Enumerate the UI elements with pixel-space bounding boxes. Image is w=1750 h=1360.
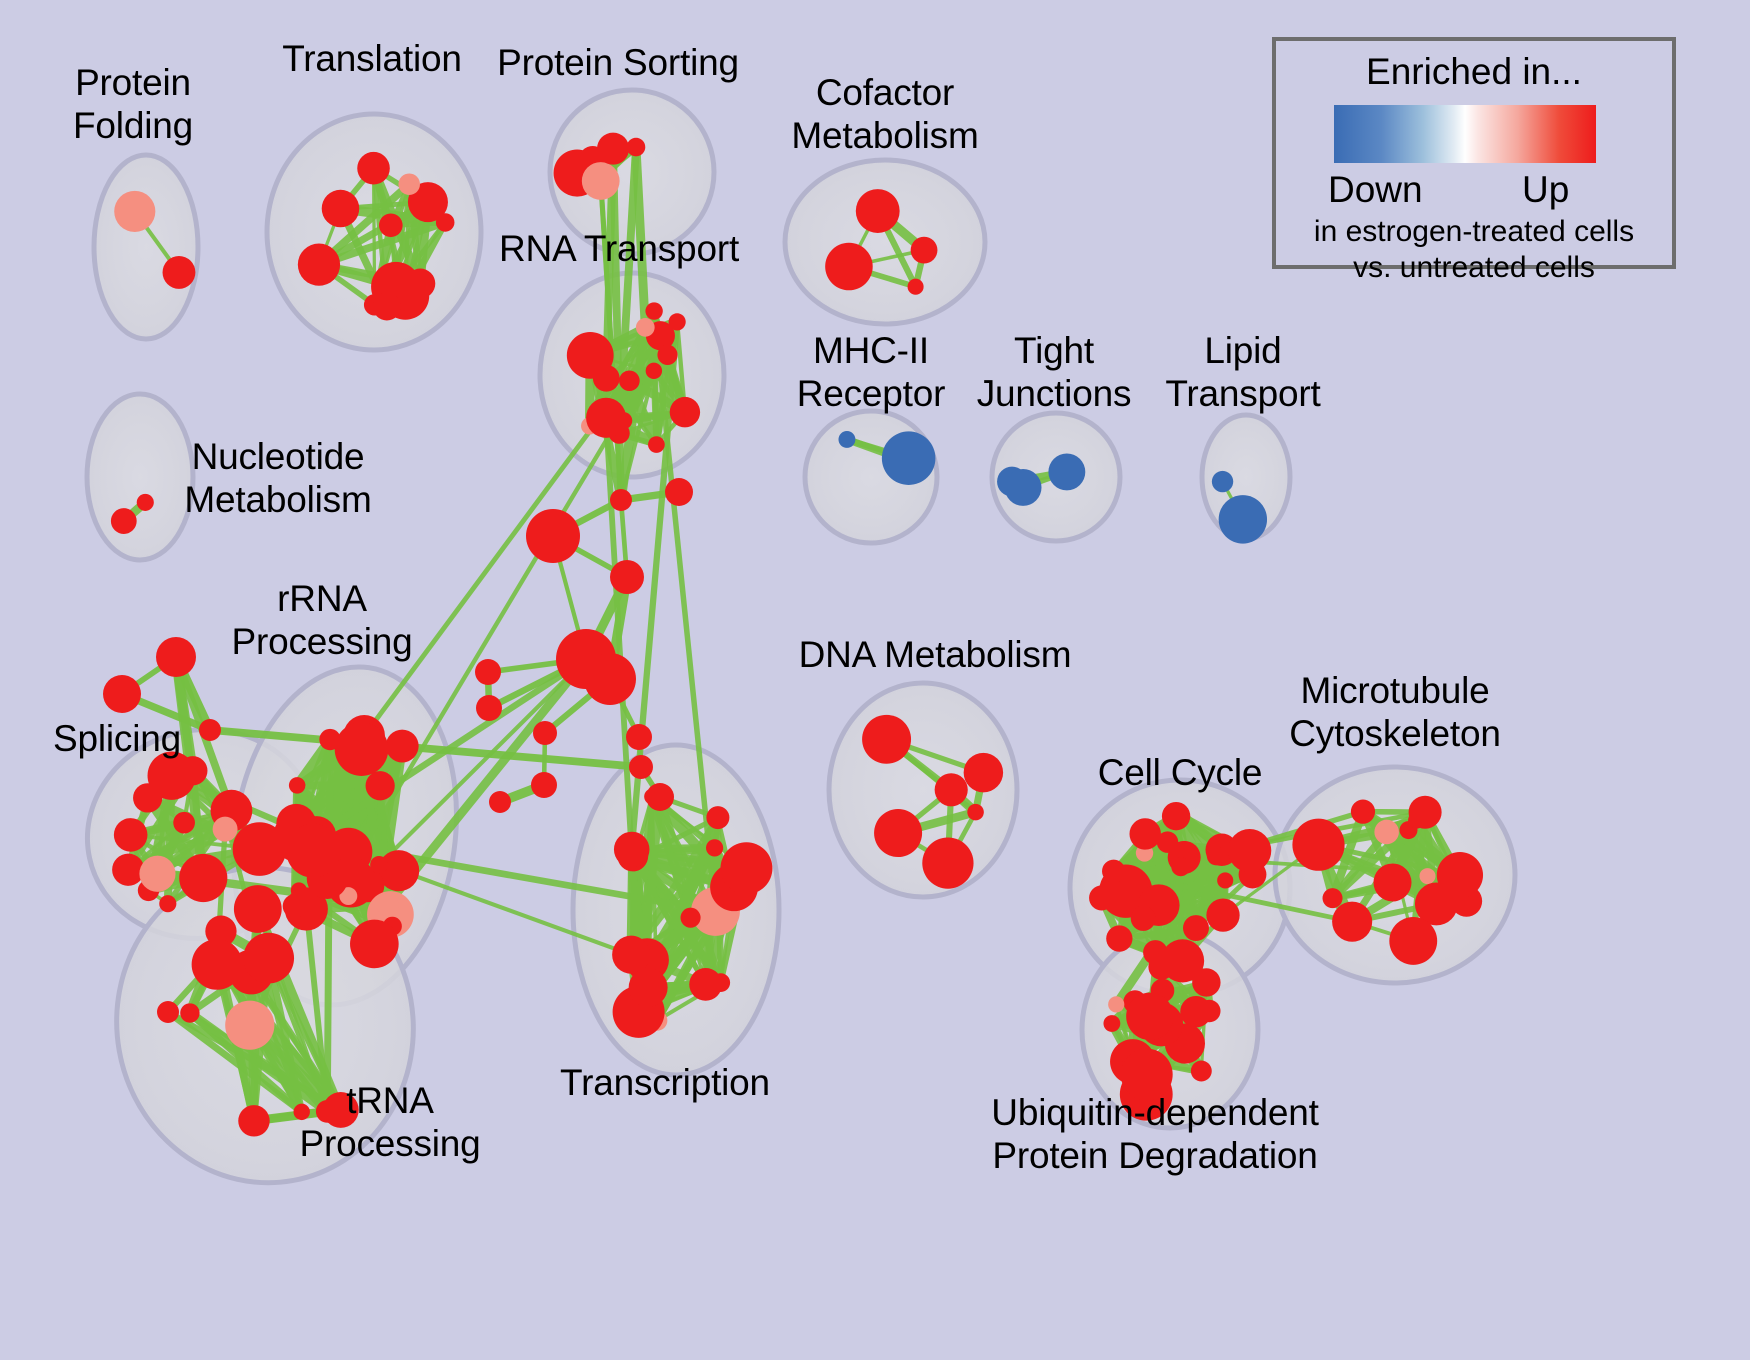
network-node — [370, 856, 388, 874]
network-node — [967, 804, 984, 821]
cluster-label-cell-cycle: Cell Cycle — [1098, 752, 1263, 795]
network-node — [1206, 899, 1239, 932]
network-node — [1103, 1015, 1120, 1032]
network-node — [1191, 1061, 1212, 1082]
network-node — [1217, 872, 1233, 888]
cluster-label-microtubule-cytoskeleton: Microtubule Cytoskeleton — [1289, 670, 1501, 756]
network-node — [475, 659, 501, 685]
network-node — [619, 370, 640, 391]
network-node — [192, 939, 243, 990]
network-node — [627, 138, 646, 157]
cluster-label-rrna-processing: rRNA Processing — [231, 578, 412, 664]
network-node — [373, 292, 401, 320]
network-node — [225, 1001, 274, 1050]
network-node — [243, 933, 294, 984]
network-node — [1323, 888, 1343, 908]
network-node — [436, 213, 455, 232]
network-node — [646, 783, 674, 811]
network-node — [238, 1105, 269, 1136]
network-node — [322, 190, 360, 228]
legend-subtitle-line-1: in estrogen-treated cells — [1276, 215, 1672, 249]
network-node — [612, 936, 650, 974]
cluster-label-splicing: Splicing — [53, 718, 181, 761]
network-node — [179, 854, 227, 902]
cluster-ellipse-nucleotide-metabolism — [87, 394, 193, 560]
network-node — [137, 494, 154, 511]
network-node — [669, 313, 686, 330]
network-node — [111, 508, 137, 534]
network-node — [1389, 917, 1437, 965]
network-node — [1219, 495, 1267, 543]
network-node — [922, 837, 973, 888]
cluster-label-dna-metabolism: DNA Metabolism — [799, 634, 1072, 677]
legend-up-label: Up — [1522, 169, 1569, 211]
network-node — [180, 1003, 199, 1022]
network-node — [614, 832, 650, 868]
network-node — [298, 244, 340, 286]
cluster-label-translation: Translation — [282, 38, 461, 81]
network-node — [626, 724, 652, 750]
network-node — [531, 772, 557, 798]
network-node — [646, 363, 662, 379]
network-node — [286, 824, 340, 878]
network-node — [706, 806, 729, 829]
network-node — [911, 237, 938, 264]
network-node — [645, 302, 662, 319]
legend-box: Enriched in... Down Up in estrogen-treat… — [1272, 37, 1676, 269]
network-node — [157, 1001, 179, 1023]
network-node — [670, 397, 700, 427]
network-edge — [654, 371, 657, 445]
network-node — [1089, 885, 1114, 910]
network-node — [1005, 469, 1042, 506]
network-node — [1292, 819, 1344, 871]
network-node — [213, 817, 238, 842]
network-node — [1419, 868, 1435, 884]
network-node — [139, 856, 175, 892]
network-node — [706, 839, 723, 856]
network-node — [629, 755, 653, 779]
network-node — [1409, 796, 1442, 829]
network-node — [825, 243, 873, 291]
network-node — [1102, 860, 1125, 883]
network-node — [112, 854, 144, 886]
network-node — [234, 885, 282, 933]
network-node — [597, 133, 629, 165]
network-node — [357, 152, 390, 185]
cluster-label-mhc-ii-receptor: MHC-II Receptor — [797, 330, 946, 416]
network-node — [366, 771, 395, 800]
cluster-ellipse-cofactor-metabolism — [785, 160, 985, 324]
network-node — [1332, 902, 1372, 942]
network-node — [199, 719, 221, 741]
network-node — [1171, 857, 1190, 876]
network-node — [610, 560, 644, 594]
network-node — [582, 162, 620, 200]
cluster-label-trna-processing: tRNA Processing — [299, 1080, 480, 1166]
cluster-label-ubiquitin-degradation: Ubiquitin-dependent Protein Degradation — [991, 1092, 1318, 1178]
network-figure: Protein FoldingTranslationProtein Sortin… — [0, 0, 1750, 1360]
network-node — [689, 968, 722, 1001]
network-node — [103, 675, 141, 713]
cluster-label-protein-folding: Protein Folding — [73, 62, 193, 148]
network-node — [533, 721, 557, 745]
network-node — [335, 722, 389, 776]
network-node — [1106, 925, 1132, 951]
color-gradient-bar — [1334, 105, 1596, 163]
cluster-label-nucleotide-metabolism: Nucleotide Metabolism — [184, 436, 371, 522]
network-node — [1108, 996, 1124, 1012]
network-node — [720, 842, 772, 894]
network-node — [526, 509, 580, 563]
network-node — [386, 730, 419, 763]
network-node — [1212, 471, 1233, 492]
cluster-label-cofactor-metabolism: Cofactor Metabolism — [791, 72, 978, 158]
network-node — [584, 653, 636, 705]
network-node — [586, 398, 626, 438]
network-node — [636, 318, 655, 337]
cluster-label-rna-transport: RNA Transport — [499, 228, 739, 271]
network-node — [114, 191, 155, 232]
network-node — [283, 894, 307, 918]
network-node — [856, 189, 900, 233]
network-node — [1207, 846, 1226, 865]
network-node — [648, 436, 665, 453]
network-node — [1198, 1000, 1221, 1023]
network-node — [874, 809, 922, 857]
network-node — [1183, 915, 1209, 941]
network-node — [379, 213, 403, 237]
network-node — [1048, 454, 1085, 491]
cluster-label-tight-junctions: Tight Junctions — [977, 330, 1132, 416]
cluster-ellipse-protein-folding — [94, 155, 198, 339]
legend-title: Enriched in... — [1276, 51, 1672, 93]
network-node — [173, 812, 195, 834]
network-node — [1373, 863, 1411, 901]
network-node — [1192, 968, 1220, 996]
network-node — [964, 753, 1003, 792]
network-node — [862, 715, 911, 764]
legend-down-label: Down — [1328, 169, 1423, 211]
network-node — [476, 695, 502, 721]
network-node — [908, 279, 924, 295]
network-node — [657, 345, 677, 365]
network-node — [163, 256, 196, 289]
network-node — [1148, 954, 1174, 980]
legend-subtitle-line-2: vs. untreated cells — [1276, 251, 1672, 285]
network-node — [882, 431, 936, 485]
network-node — [1131, 906, 1156, 931]
cluster-label-lipid-transport: Lipid Transport — [1165, 330, 1320, 416]
network-node — [114, 818, 148, 852]
network-node — [1228, 829, 1271, 872]
network-node — [838, 431, 855, 448]
network-node — [610, 489, 632, 511]
cluster-label-protein-sorting: Protein Sorting — [497, 42, 739, 85]
network-node — [665, 478, 693, 506]
network-node — [1437, 852, 1483, 898]
network-node — [398, 173, 420, 195]
network-node — [681, 908, 701, 928]
network-node — [1126, 993, 1173, 1040]
network-node — [350, 920, 399, 969]
network-node — [376, 894, 398, 916]
network-node — [593, 365, 620, 392]
network-node — [1351, 800, 1375, 824]
network-edge — [327, 740, 330, 1112]
network-node — [1162, 802, 1190, 830]
network-node — [156, 637, 196, 677]
network-node — [159, 895, 176, 912]
network-node — [629, 968, 668, 1007]
network-node — [489, 791, 511, 813]
network-node — [1374, 820, 1399, 845]
cluster-label-transcription: Transcription — [560, 1062, 770, 1105]
network-node — [289, 777, 306, 794]
network-node — [935, 773, 968, 806]
network-node — [1129, 818, 1160, 849]
